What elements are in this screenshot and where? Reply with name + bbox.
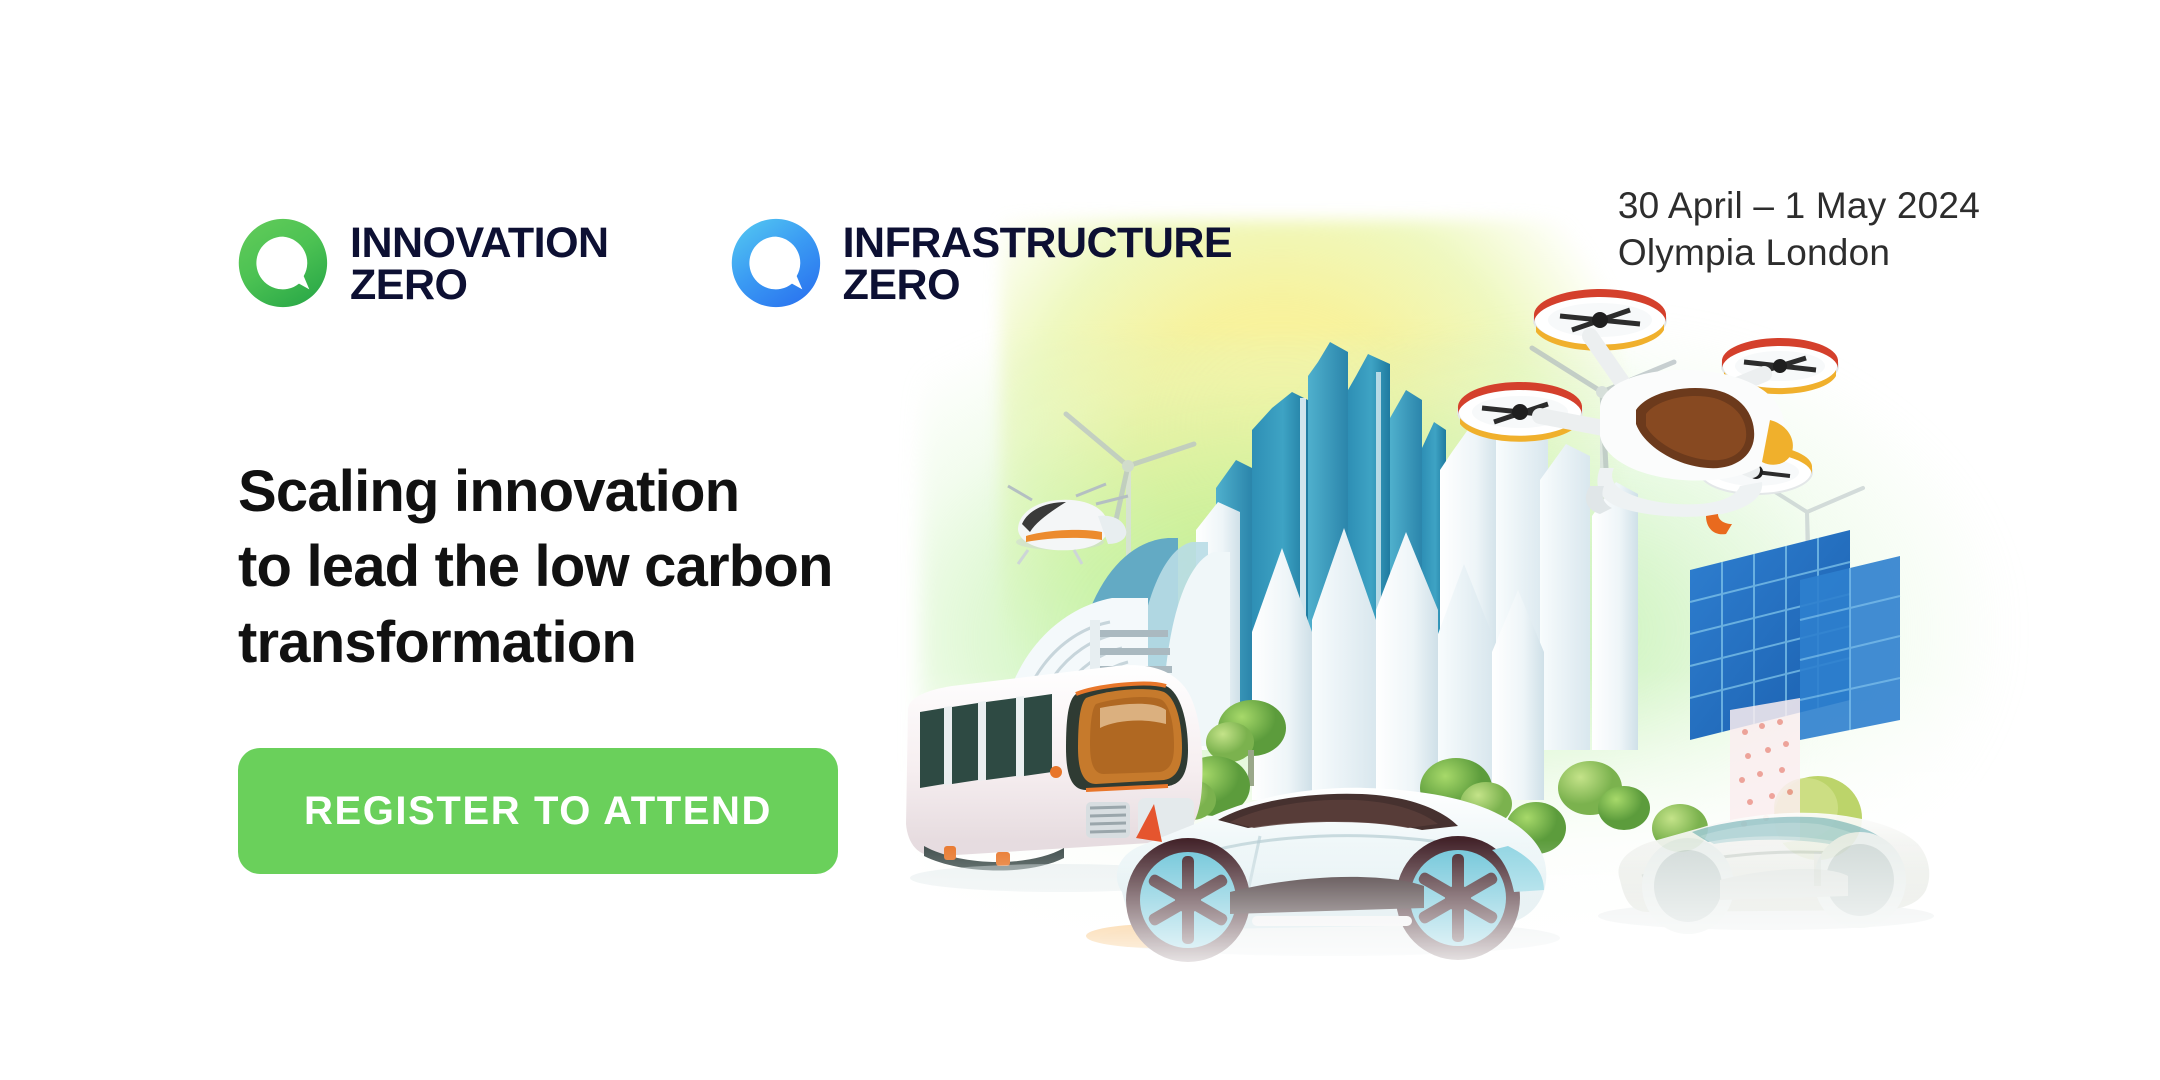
glow-bottom-fade (880, 670, 1980, 970)
brand-line-2: ZERO (843, 264, 1233, 306)
tram-vehicle (906, 665, 1210, 892)
futuristic-city-illustration (900, 280, 1980, 980)
teal-curved-building (1068, 538, 1230, 746)
infrastructure-zero-logo[interactable]: INFRASTRUCTURE ZERO (729, 178, 1233, 349)
event-promo-banner: INNOVATION ZERO INFRAST (0, 0, 2160, 1080)
ribbed-curved-building (1000, 598, 1186, 840)
white-skyscrapers (1196, 384, 1638, 800)
wind-turbine-left (1066, 414, 1194, 680)
brand-line-1: INFRASTRUCTURE (843, 219, 1233, 267)
brand-line-2: ZERO (350, 264, 609, 306)
wind-turbine-far-right (1753, 478, 1863, 685)
infrastructure-zero-wordmark: INFRASTRUCTURE ZERO (843, 178, 1233, 349)
flowering-facade (1730, 698, 1800, 852)
banner-header: INNOVATION ZERO INFRAST (236, 178, 1980, 308)
event-dates: 30 April – 1 May 2024 (1618, 182, 1980, 229)
electric-sports-car (1086, 788, 1560, 962)
glow-green-secondary (1310, 320, 2010, 940)
headline-line-2: to lead the low carbon (238, 529, 1018, 604)
headline: Scaling innovation to lead the low carbo… (238, 454, 1018, 680)
solar-panel-array (1690, 530, 1900, 740)
glow-green (920, 340, 1800, 960)
innovation-zero-wordmark: INNOVATION ZERO (350, 178, 609, 349)
trees-cluster (1168, 700, 1862, 886)
headline-line-1: Scaling innovation (238, 454, 1018, 529)
register-to-attend-button[interactable]: REGISTER TO ATTEND (238, 748, 838, 874)
innovation-zero-logo-mark-icon (236, 216, 330, 310)
second-electric-car (1598, 813, 1934, 934)
infrastructure-zero-logo-mark-icon (729, 216, 823, 310)
air-taxi-drone (1458, 289, 1838, 534)
headline-line-3: transformation (238, 605, 1018, 680)
blue-skyscrapers (1216, 342, 1446, 710)
event-details: 30 April – 1 May 2024 Olympia London (1618, 178, 1980, 277)
brand-line-1: INNOVATION (350, 219, 609, 267)
wind-turbine-right (1532, 348, 1674, 630)
small-drone (1008, 484, 1128, 564)
event-venue: Olympia London (1618, 229, 1980, 276)
innovation-zero-logo[interactable]: INNOVATION ZERO (236, 178, 609, 349)
